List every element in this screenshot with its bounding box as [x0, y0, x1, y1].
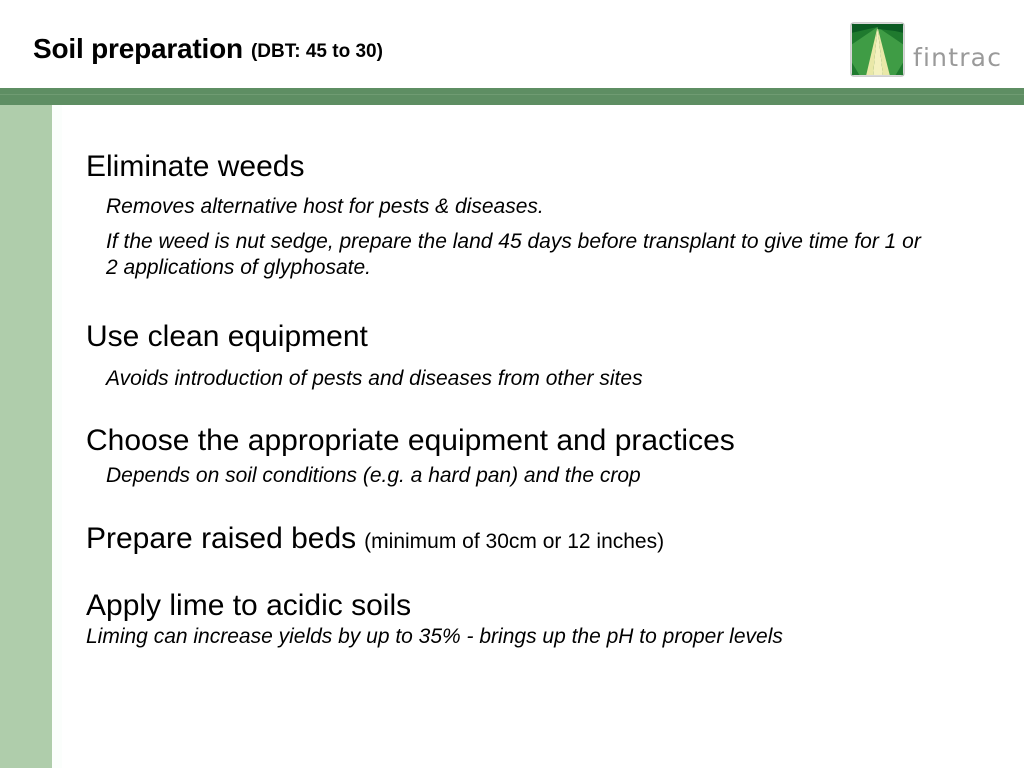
- section-subtext: If the weed is nut sedge, prepare the la…: [106, 229, 921, 282]
- section-subtext: Depends on soil conditions (e.g. a hard …: [106, 463, 1004, 489]
- section-heading: Choose the appropriate equipment and pra…: [86, 425, 1004, 457]
- section-heading: Use clean equipment: [86, 321, 1004, 353]
- page-title-main: Soil preparation: [33, 33, 243, 64]
- section-prepare-raised-beds: Prepare raised beds(minimum of 30cm or 1…: [86, 523, 1004, 555]
- section-heading: Prepare raised beds(minimum of 30cm or 1…: [86, 523, 1004, 555]
- section-subtext: Liming can increase yields by up to 35% …: [86, 624, 1004, 650]
- section-heading: Eliminate weeds: [86, 151, 1004, 183]
- section-choose-equipment: Choose the appropriate equipment and pra…: [86, 425, 1004, 490]
- page-title: Soil preparation(DBT: 45 to 30): [33, 33, 383, 65]
- section-heading-note: (minimum of 30cm or 12 inches): [364, 530, 664, 553]
- header-green-bar: [0, 88, 1024, 105]
- header-green-bar-hairline: [0, 94, 1024, 95]
- fintrac-wordmark: fintrac: [913, 43, 1002, 72]
- section-apply-lime: Apply lime to acidic soils Liming can in…: [86, 590, 1004, 651]
- slide-canvas: Soil preparation(DBT: 45 to 30): [0, 0, 1024, 768]
- slide-body: Eliminate weeds Removes alternative host…: [0, 105, 1024, 768]
- section-heading: Apply lime to acidic soils: [86, 590, 1004, 622]
- slide-header: Soil preparation(DBT: 45 to 30): [0, 0, 1024, 88]
- page-title-note: (DBT: 45 to 30): [251, 41, 383, 62]
- section-subtext: Removes alternative host for pests & dis…: [106, 194, 1004, 220]
- section-use-clean-equipment: Use clean equipment Avoids introduction …: [86, 321, 1004, 393]
- fintrac-logo: fintrac: [851, 23, 1021, 79]
- section-eliminate-weeds: Eliminate weeds Removes alternative host…: [86, 151, 1004, 281]
- section-heading-text: Prepare raised beds: [86, 522, 356, 555]
- section-subtext: Avoids introduction of pests and disease…: [106, 366, 1004, 392]
- field-rows-logo-icon: [851, 23, 904, 76]
